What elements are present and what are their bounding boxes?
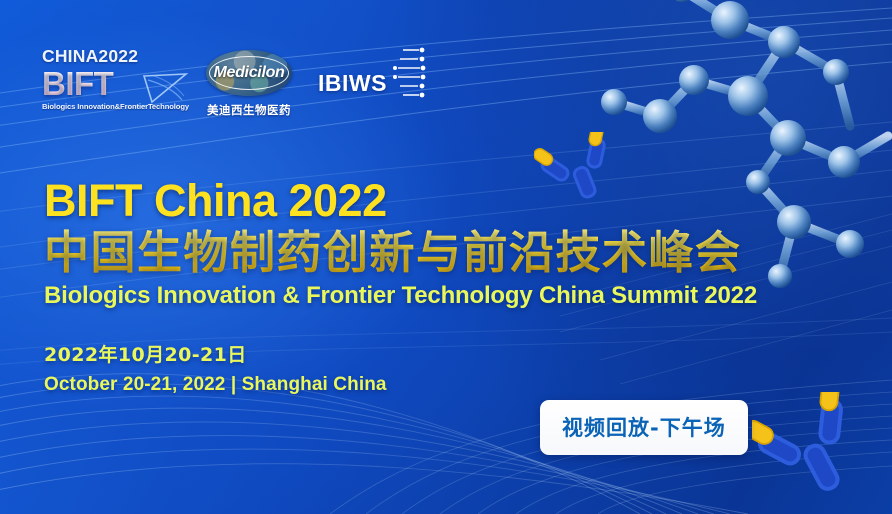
ibiws-logo[interactable]: IBIWS [318, 48, 429, 104]
video-replay-button[interactable]: 视频回放-下午场 [540, 400, 748, 455]
antibody-icon-lower [752, 392, 874, 504]
date-english: October 20-21, 2022 | Shanghai China [44, 374, 387, 396]
date-chinese: 2022年10月20-21日 [44, 340, 387, 367]
medicilon-badge: Medicilon [206, 50, 292, 96]
medicilon-chinese-name: 美迪西生物医药 [206, 102, 292, 118]
date-block: 2022年10月20-21日 October 20-21, 2022 | Sha… [44, 340, 387, 396]
medicilon-oval-ring [209, 56, 289, 90]
dna-helix-icon [389, 46, 429, 104]
medicilon-logo[interactable]: Medicilon 美迪西生物医药 [206, 48, 292, 118]
video-replay-button-label: 视频回放-下午场 [562, 416, 726, 440]
bift-logo[interactable]: CHINA2022 BIFT Biologics Innovation&Fron… [42, 48, 180, 111]
sponsor-logo-row: CHINA2022 BIFT Biologics Innovation&Fron… [42, 48, 429, 118]
bift-logo-year: CHINA2022 [42, 48, 180, 66]
chinese-title: 中国生物制药创新与前沿技术峰会 [44, 229, 864, 277]
ibiws-wordmark: IBIWS [318, 70, 387, 97]
bift-swoosh-icon [142, 70, 190, 104]
english-subtitle: Biologics Innovation & Frontier Technolo… [44, 283, 864, 309]
event-banner: CHINA2022 BIFT Biologics Innovation&Fron… [0, 0, 892, 514]
headline-block: BIFT China 2022 中国生物制药创新与前沿技术峰会 Biologic… [44, 178, 864, 309]
english-title: BIFT China 2022 [44, 178, 864, 224]
